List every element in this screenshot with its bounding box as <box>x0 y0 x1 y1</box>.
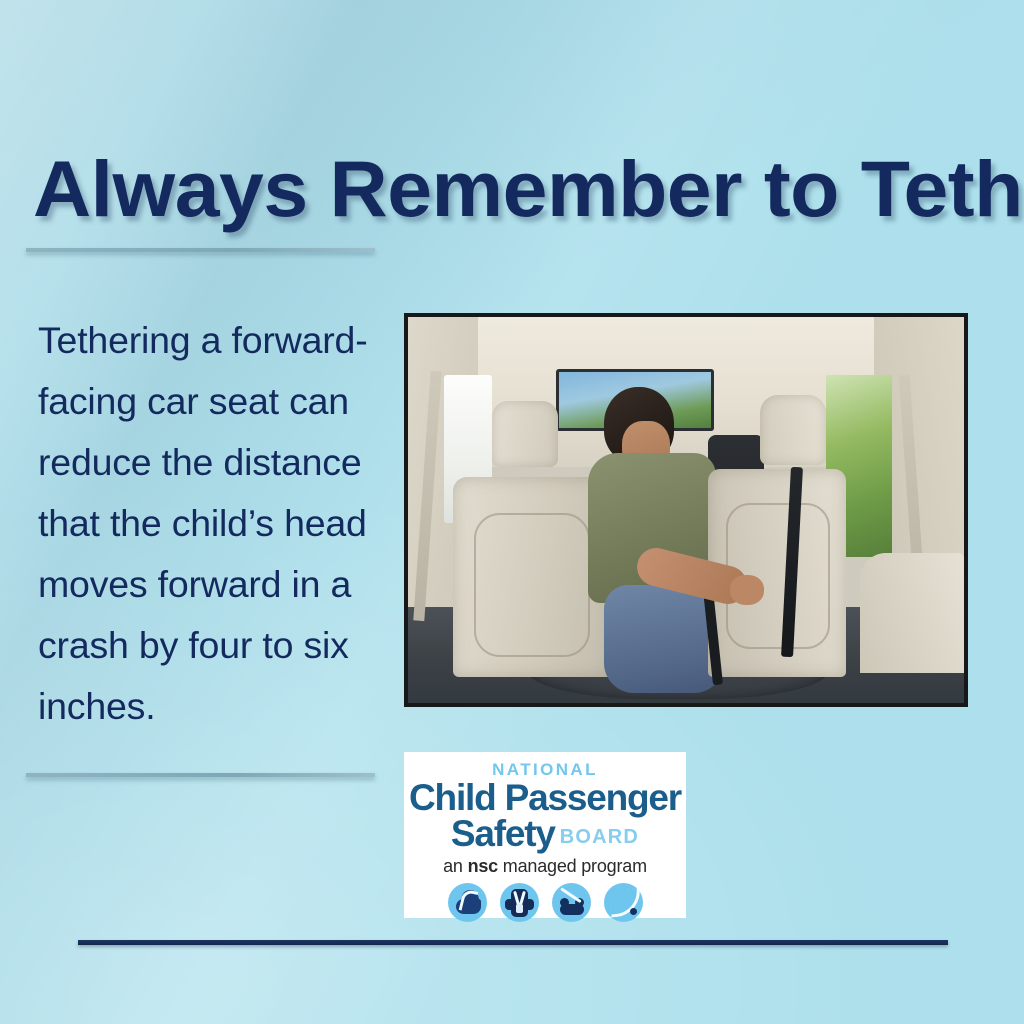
poster-canvas: Always Remember to Tether Tethering a fo… <box>0 0 1024 1024</box>
car-seat-left-wing <box>505 899 513 910</box>
harnessed-car-seat-icon <box>500 883 539 922</box>
logo-tagline: an nsc managed program <box>404 856 686 877</box>
logo-safety-board-line: SafetyBOARD <box>404 816 686 853</box>
divider-bottom <box>26 773 375 777</box>
rear-facing-infant-seat-icon <box>448 883 487 922</box>
tagline-prefix: an <box>443 856 467 876</box>
logo-national-text: NATIONAL <box>404 761 686 778</box>
left-seat-stitching <box>474 513 590 657</box>
body-text: Tethering a forward-facing car seat can … <box>38 310 378 737</box>
footer-rule <box>78 940 948 945</box>
tether-curve <box>608 888 642 918</box>
tagline-brand-nsc: nsc <box>468 856 498 876</box>
tether-hook-icon <box>604 883 643 922</box>
logo-safety-text: Safety <box>451 813 555 854</box>
page-title: Always Remember to Tether <box>33 149 1017 228</box>
person-hand <box>730 575 764 605</box>
right-side-console <box>860 553 964 673</box>
tagline-suffix: managed program <box>498 856 647 876</box>
logo-child-passenger-text: Child Passenger <box>404 780 686 817</box>
booster-seat-tether-icon <box>552 883 591 922</box>
harness-buckle <box>516 904 523 913</box>
car-seat-right-wing <box>526 899 534 910</box>
tether-anchor <box>630 908 637 915</box>
logo-board-text: BOARD <box>560 826 639 848</box>
tether-demonstration-photo <box>404 313 968 707</box>
left-seat-headrest <box>492 401 558 467</box>
logo-icon-row <box>404 883 686 922</box>
right-seat-headrest <box>760 395 826 465</box>
booster-left-arm <box>560 898 569 907</box>
cpsb-logo: NATIONAL Child Passenger SafetyBOARD an … <box>404 752 686 918</box>
divider-top <box>26 248 375 252</box>
